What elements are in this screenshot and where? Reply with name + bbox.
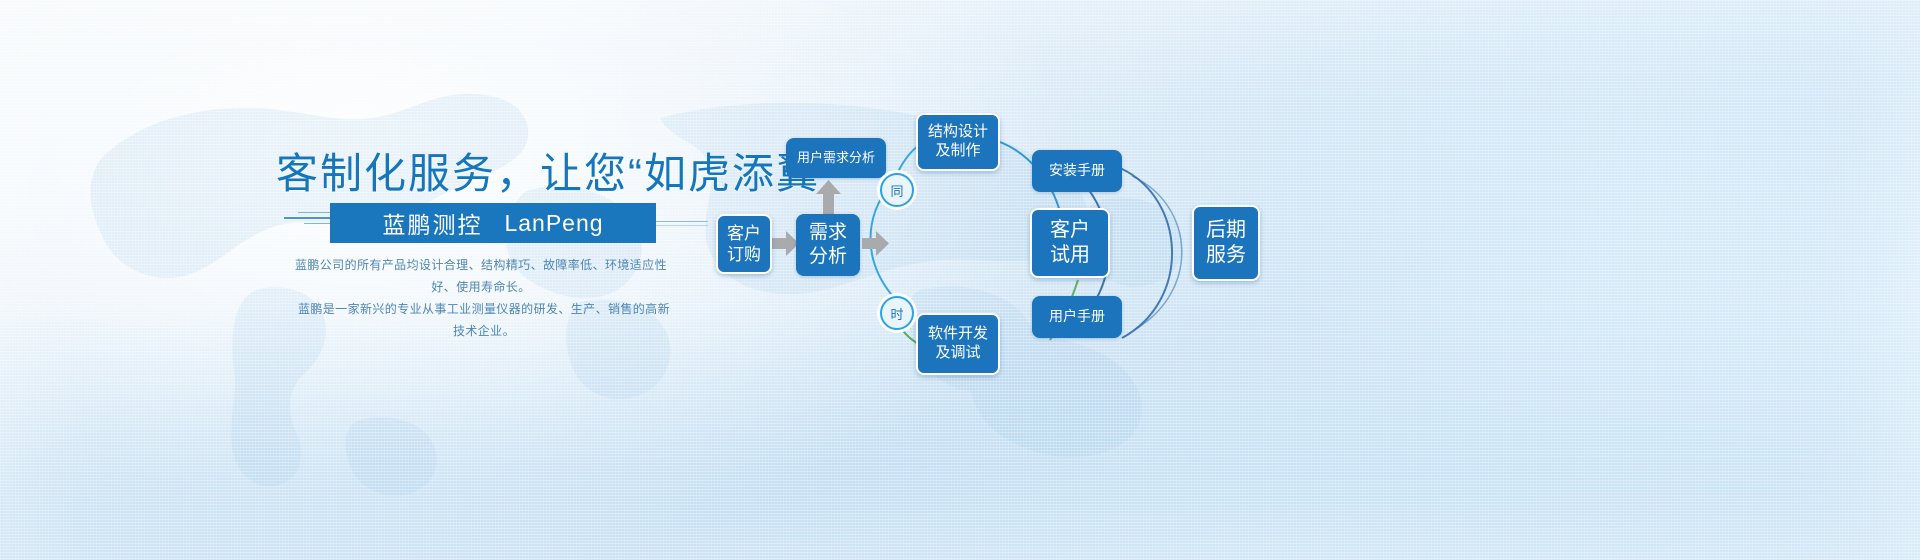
flow-node-after-sales-service[interactable]: 后期 服务 xyxy=(1192,205,1260,281)
badge-shi[interactable]: 时 xyxy=(880,296,914,330)
description-line-2: 蓝鹏是一家新兴的专业从事工业测量仪器的研发、生产、销售的高新技术企业。 xyxy=(286,298,676,342)
flow-node-label-line1: 结构设计 xyxy=(928,123,988,142)
speed-lines-right xyxy=(656,221,708,225)
flow-node-label-line1: 客户 xyxy=(1050,218,1090,243)
arrow-analysis-to-cycle xyxy=(862,231,890,257)
brand-name-en: LanPeng xyxy=(504,210,603,237)
flow-node-label: 安装手册 xyxy=(1049,162,1105,179)
company-description: 蓝鹏公司的所有产品均设计合理、结构精巧、故障率低、环境适应性好、使用寿命长。 蓝… xyxy=(286,254,676,342)
flow-node-label-line2: 及制作 xyxy=(928,142,988,161)
flow-node-software-development[interactable]: 软件开发 及调试 xyxy=(916,313,1000,375)
flow-node-customer-order[interactable]: 客户 订购 xyxy=(716,214,772,274)
flow-node-requirement-analysis[interactable]: 需求 分析 xyxy=(796,214,860,276)
brand-name-cn: 蓝鹏测控 xyxy=(382,206,482,240)
flow-node-customer-trial[interactable]: 客户 试用 xyxy=(1030,208,1110,278)
flow-node-structural-design[interactable]: 结构设计 及制作 xyxy=(916,113,1000,171)
badge-tong[interactable]: 同 xyxy=(880,173,914,207)
flow-node-user-requirement-analysis[interactable]: 用户需求分析 xyxy=(786,138,886,178)
flow-node-label-line1: 需求 xyxy=(809,221,847,245)
flow-node-label-line1: 客户 xyxy=(727,223,761,244)
description-line-1: 蓝鹏公司的所有产品均设计合理、结构精巧、故障率低、环境适应性好、使用寿命长。 xyxy=(286,254,676,298)
flow-node-label-line2: 及调试 xyxy=(928,344,988,363)
flow-node-installation-manual[interactable]: 安装手册 xyxy=(1032,150,1122,192)
page-title: 客制化服务，让您“如虎添翼” xyxy=(276,140,836,201)
flow-node-label-line2: 服务 xyxy=(1206,243,1246,268)
badge-label: 时 xyxy=(890,304,903,323)
promo-banner: 客制化服务，让您“如虎添翼” 蓝鹏测控 LanPeng 蓝鹏公司的所有产品均设计… xyxy=(0,0,1920,560)
brand-bar: 蓝鹏测控 LanPeng xyxy=(330,203,656,243)
badge-label: 同 xyxy=(890,181,903,200)
flow-node-label-line2: 试用 xyxy=(1050,243,1090,268)
flow-node-label: 用户手册 xyxy=(1049,308,1105,325)
flow-node-label-line1: 后期 xyxy=(1206,218,1246,243)
flow-node-label-line1: 软件开发 xyxy=(928,325,988,344)
flow-node-label-line2: 分析 xyxy=(809,245,847,269)
flow-node-label-line2: 订购 xyxy=(727,244,761,265)
flow-node-label: 用户需求分析 xyxy=(797,150,875,166)
speed-lines-left xyxy=(284,212,330,234)
flow-node-user-manual[interactable]: 用户手册 xyxy=(1032,296,1122,338)
